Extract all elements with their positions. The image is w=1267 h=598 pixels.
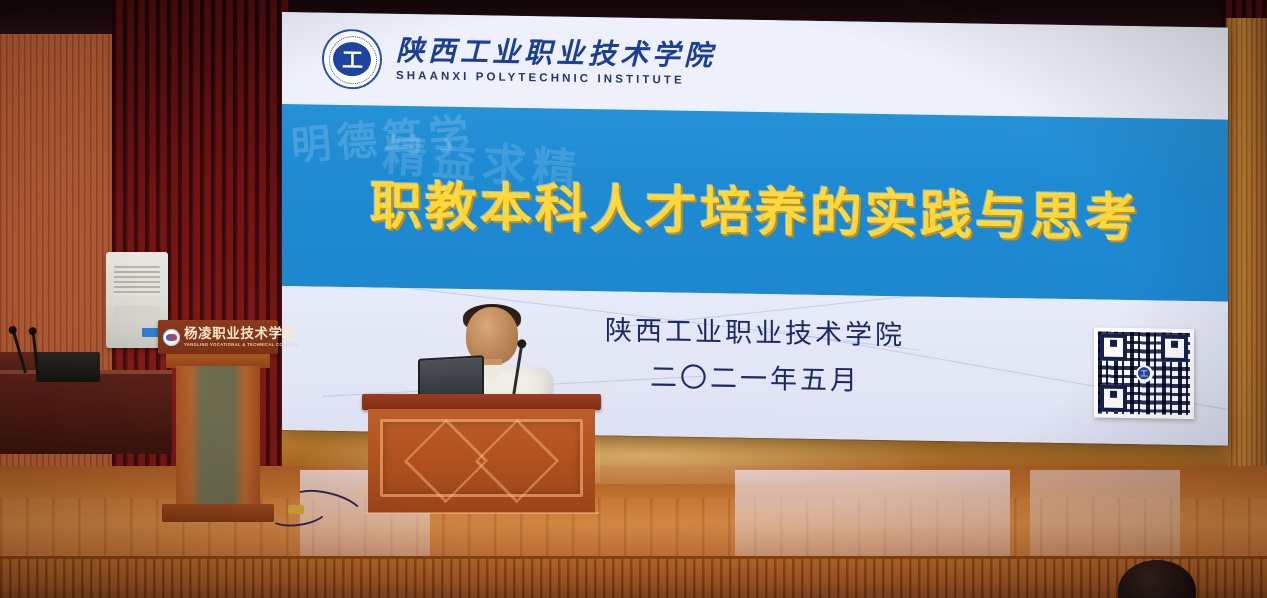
qr-logo-monogram: 工 xyxy=(1138,367,1150,379)
qr-center-logo-icon: 工 xyxy=(1136,365,1153,382)
qr-code: 工 xyxy=(1094,327,1194,419)
qr-finder-bottom-left xyxy=(1100,385,1127,412)
background-table xyxy=(0,370,172,454)
lectern-panel-frame xyxy=(380,419,583,497)
podium-base xyxy=(162,504,274,522)
institution-name-en: SHAANXI POLYTECHNIC INSTITUTE xyxy=(396,71,716,88)
lectern-top-surface xyxy=(362,394,601,410)
podium-column xyxy=(176,366,260,506)
qr-finder-top-right xyxy=(1161,335,1188,362)
institution-name-cn: 陕西工业职业技术学院 xyxy=(396,38,716,71)
institution-brand: 工 陕西工业职业技术学院 SHAANXI POLYTECHNIC INSTITU… xyxy=(322,29,716,96)
slide-title: 职教本科人才培养的实践与思考 xyxy=(282,162,1228,253)
podium-sign-en: YANGLING VOCATIONAL & TECHNICAL COLLEGE xyxy=(184,343,299,347)
lectern-front-panel xyxy=(368,409,595,513)
ac-control-panel xyxy=(114,306,160,322)
yangling-logo-icon xyxy=(163,329,180,346)
cable-connector xyxy=(288,505,304,514)
slide-title-band: 明德笃学 精益求精 职教本科人才培养的实践与思考 xyxy=(282,104,1228,302)
logo-monogram: 工 xyxy=(322,29,382,90)
ac-vent-icon xyxy=(114,266,160,296)
podium-name-sign: 杨凌职业技术学院 YANGLING VOCATIONAL & TECHNICAL… xyxy=(158,320,278,354)
lectern-base xyxy=(364,512,599,528)
right-wood-wall xyxy=(1226,18,1267,530)
lectern-diamond-right xyxy=(475,419,559,503)
background-monitor xyxy=(36,352,100,382)
school-seal-icon: 工 xyxy=(322,29,382,90)
auditorium-stage-photo: 工 陕西工业职业技术学院 SHAANXI POLYTECHNIC INSTITU… xyxy=(0,0,1267,598)
qr-finder-top-left xyxy=(1100,334,1127,361)
main-lectern xyxy=(368,394,595,529)
podium-sign-cn: 杨凌职业技术学院 xyxy=(184,327,299,341)
stage-front-edge xyxy=(0,556,1267,598)
secondary-podium: 杨凌职业技术学院 YANGLING VOCATIONAL & TECHNICAL… xyxy=(158,320,278,530)
slide-header: 工 陕西工业职业技术学院 SHAANXI POLYTECHNIC INSTITU… xyxy=(282,12,1228,120)
